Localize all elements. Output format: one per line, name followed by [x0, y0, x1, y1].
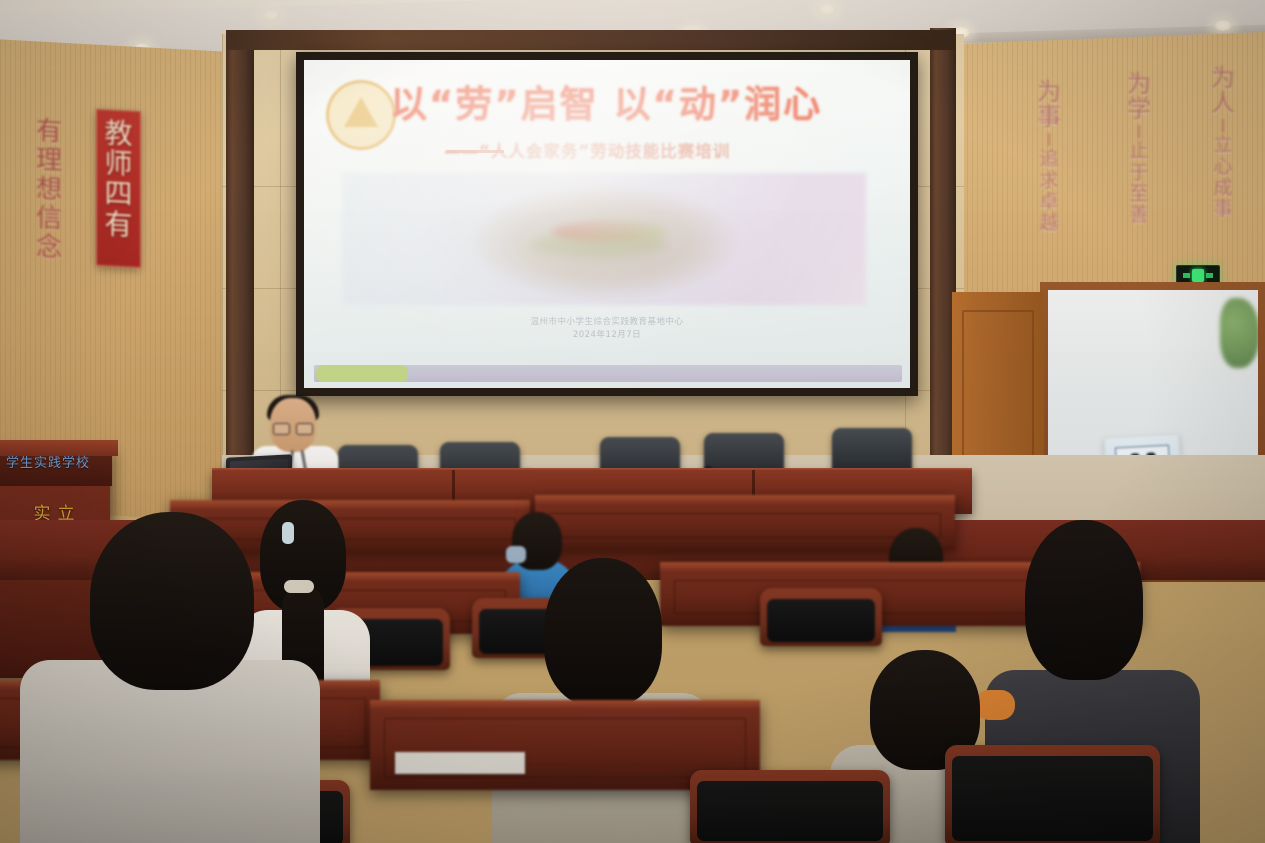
desk-ledge [535, 495, 955, 504]
wall-calligraphy-col-2: 为学 止于至善 [1124, 72, 1154, 226]
calligraphy-head-2: 为学 [1124, 72, 1154, 122]
downlight-5 [1214, 20, 1232, 31]
projection-screen: 以“劳”启智 以“动”润心 ——“人人会家务”劳动技能比赛培训 温州市中小学生综… [304, 60, 910, 388]
slide-subtitle: ——“人人会家务”劳动技能比赛培训 [444, 138, 874, 162]
red-banner-teacher-four-virtues: 教师四有 [96, 109, 141, 268]
calligraphy-dash-2 [1138, 125, 1140, 138]
chair-seat-back [952, 756, 1153, 841]
lectern-school-name: 学生实践学校 [0, 452, 108, 471]
downlight-7 [262, 10, 280, 21]
exit-sign-text-right [1206, 273, 1213, 278]
calligraphy-body-2: 止于至善 [1124, 141, 1154, 226]
wall-calligraphy-col-1: 为事 追求卓越 [1034, 80, 1064, 234]
audience-chair-r3-b [690, 770, 890, 843]
slide-title: 以“劳”启智 以“动”润心 [390, 86, 890, 125]
slide-credit: 温州市中小学生综合实践教育基地中心 2024年12月7日 [304, 316, 910, 342]
slide-campus-photo [342, 173, 866, 305]
school-emblem-icon [326, 80, 396, 150]
photo-running-track [552, 221, 667, 242]
calligraphy-dash-1 [1048, 133, 1050, 146]
glasses-lens-right [296, 423, 313, 435]
person-head [1025, 520, 1143, 680]
projection-screen-frame: 以“劳”启智 以“动”润心 ——“人人会家务”劳动技能比赛培训 温州市中小学生综… [296, 52, 918, 396]
exit-sign-text-left [1183, 273, 1190, 278]
calligraphy-body-1: 追求卓越 [1034, 149, 1064, 234]
person-head [90, 512, 254, 690]
slide-credit-date: 2024年12月7日 [304, 329, 910, 342]
calligraphy-body-3: 立心成事 [1208, 135, 1238, 220]
desk-ledge [370, 700, 760, 709]
wall-calligraphy-ideals: 有理想信念 [32, 117, 66, 264]
calligraphy-head-1: 为事 [1034, 80, 1064, 130]
glasses-lens-left [273, 423, 290, 435]
calligraphy-head-3: 为人 [1208, 66, 1238, 116]
audience-chair-r2-c [760, 588, 882, 646]
calligraphy-dash-3 [1222, 119, 1224, 132]
red-banner-text: 教师四有 [97, 110, 140, 241]
header-beam [226, 30, 956, 50]
downlight-8 [818, 4, 836, 15]
slide-green-tab [316, 365, 408, 382]
chair-seat-back [767, 599, 875, 642]
chair-seat-back [697, 781, 883, 841]
running-man-icon [1192, 269, 1204, 282]
front-wall-seam-1 [222, 34, 223, 464]
audience-chair-r3-c [945, 745, 1160, 843]
lecture-hall-photo: 以“劳”启智 以“动”润心 ——“人人会家务”劳动技能比赛培训 温州市中小学生综… [0, 0, 1265, 843]
pillar-left [226, 32, 254, 468]
glasses-icon [273, 423, 313, 433]
wall-calligraphy-col-3: 为人 立心成事 [1208, 66, 1238, 220]
plant-icon [1220, 298, 1258, 368]
person-head [544, 558, 662, 706]
paper-on-desk-2 [395, 752, 525, 774]
student-grey-hoodie-front-left [20, 512, 320, 843]
slide-credit-org: 温州市中小学生综合实践教育基地中心 [304, 316, 910, 329]
